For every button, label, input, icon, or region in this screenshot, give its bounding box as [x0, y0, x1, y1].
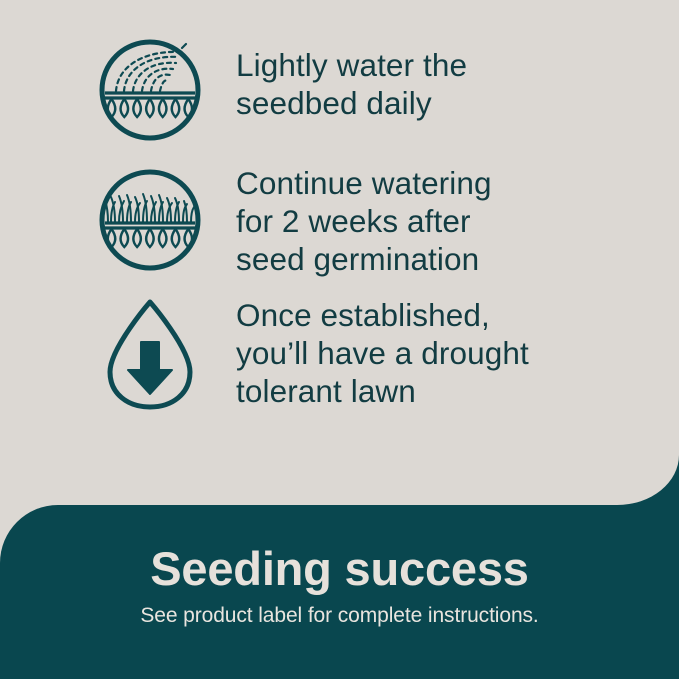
- step-label: Lightly water the seedbed daily: [236, 30, 467, 122]
- step-label: Continue watering for 2 weeks after seed…: [236, 160, 492, 278]
- water-droplet-down-arrow-icon: [96, 292, 204, 416]
- banner-corner-notch: [617, 455, 679, 505]
- steps-list: Lightly water the seedbed daily: [0, 0, 679, 426]
- banner-subtitle: See product label for complete instructi…: [0, 597, 679, 629]
- step-item-continue-watering: Continue watering for 2 weeks after seed…: [0, 160, 679, 280]
- step-label: Once established, you’ll have a drought …: [236, 292, 529, 410]
- grass-germinating-seedbed-icon: [96, 160, 204, 280]
- seeding-success-banner: Seeding success See product label for co…: [0, 505, 679, 679]
- sprinkler-watering-seedbed-icon: [96, 30, 204, 150]
- step-item-drought-tolerant: Once established, you’ll have a drought …: [0, 292, 679, 416]
- banner-title: Seeding success: [0, 505, 679, 597]
- step-item-water-seedbed: Lightly water the seedbed daily: [0, 30, 679, 150]
- infographic-page: Lightly water the seedbed daily: [0, 0, 679, 679]
